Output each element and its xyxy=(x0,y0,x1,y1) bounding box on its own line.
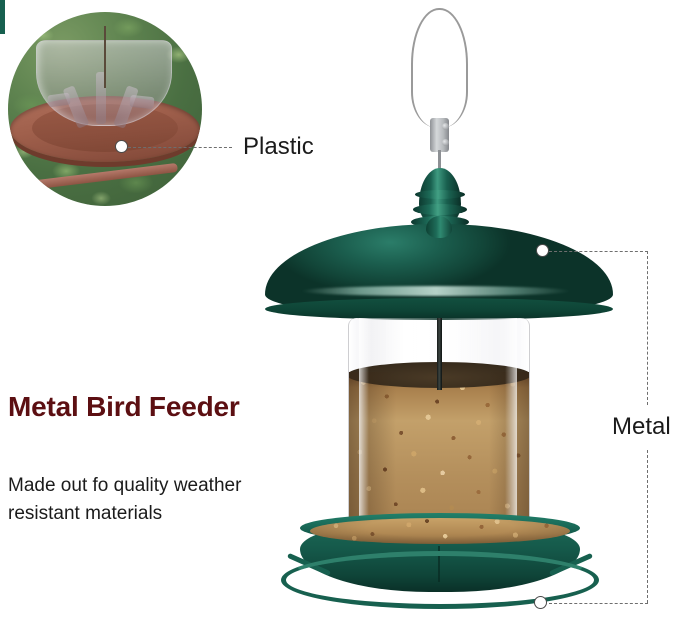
canopy-rim xyxy=(265,298,613,320)
perch-support-arm-center xyxy=(0,0,5,34)
metal-bracket-lower xyxy=(647,450,648,603)
finial-ring xyxy=(415,190,465,199)
perch-ring xyxy=(281,551,599,609)
headline-block: Metal Bird Feeder Made out fo quality we… xyxy=(8,392,308,423)
center-metal-rod xyxy=(437,318,442,390)
tray-birdseed xyxy=(310,518,570,544)
canopy-highlight xyxy=(301,286,571,296)
page-subtitle: Made out fo quality weather resistant ma… xyxy=(8,472,298,527)
clamp-screw-icon xyxy=(442,123,449,130)
plastic-marker-dot xyxy=(115,140,128,153)
metal-leader-line-top xyxy=(549,251,648,252)
plastic-leader-line xyxy=(128,147,232,148)
canopy-nub xyxy=(426,216,452,238)
hanger-wire xyxy=(411,8,468,128)
metal-marker-dot-bottom xyxy=(534,596,547,609)
cable-clamp xyxy=(430,118,449,152)
perch-ring-highlight xyxy=(281,551,599,609)
page-title: Metal Bird Feeder xyxy=(8,392,308,423)
plastic-callout-label: Plastic xyxy=(243,133,314,161)
metal-callout-label: Metal xyxy=(612,413,671,441)
product-infographic: Plastic Metal Metal Bird Feeder Made out… xyxy=(0,0,679,617)
metal-marker-dot-top xyxy=(536,244,549,257)
metal-leader-line-bottom xyxy=(549,603,648,604)
tube-highlight-left xyxy=(359,318,369,546)
metal-bracket-upper xyxy=(647,251,648,405)
finial-ring xyxy=(413,204,467,215)
tray-seed-shadow xyxy=(310,518,570,544)
tube-highlight-right xyxy=(505,318,517,546)
clamp-screw-icon xyxy=(442,139,449,146)
canopy-roof xyxy=(265,224,613,316)
